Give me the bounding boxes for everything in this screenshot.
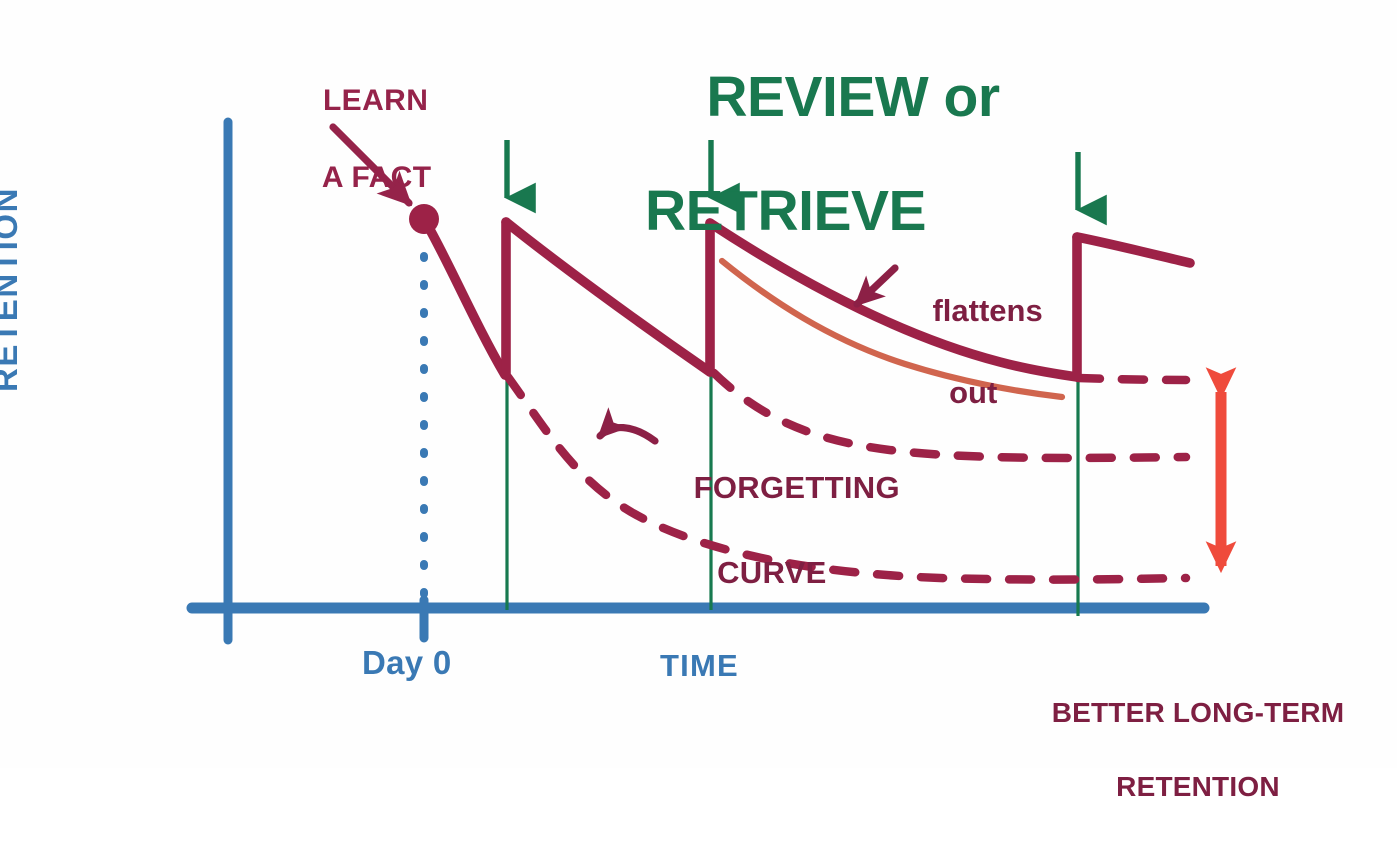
learn-a-fact-label-line2: A FACT [322, 161, 432, 194]
forgetting-curve-upper [1078, 378, 1186, 380]
flattens-out-label-line1: flattens [932, 293, 1042, 328]
forgetting-curve-label: FORGETTING CURVE [658, 424, 850, 638]
figure-canvas: REVIEW or RETRIEVE LEARN A FACT RETENTIO… [0, 0, 1397, 768]
y-axis-label: RETENTION [0, 132, 23, 392]
forgetting-curve-arrow [600, 428, 655, 441]
forgetting-curve-label-line1: FORGETTING [694, 470, 900, 505]
better-retention-label: BETTER LONG-TERM RETENTION [1017, 658, 1347, 843]
chart-title-line1: REVIEW or [706, 65, 999, 129]
retention-decay-3 [1077, 237, 1190, 263]
forgetting-curve-label-line2: CURVE [717, 555, 826, 590]
x-axis-origin-label: Day 0 [362, 646, 452, 680]
x-axis-label: TIME [660, 650, 739, 682]
flattens-out-label-line2: out [949, 375, 997, 410]
learn-a-fact-label: LEARN A FACT [288, 44, 428, 236]
better-retention-label-line2: RETENTION [1116, 771, 1280, 802]
retention-initial-decay [424, 219, 505, 375]
chart-title-line2: RETRIEVE [645, 183, 1000, 240]
learn-a-fact-label-line1: LEARN [323, 84, 428, 117]
flattens-out-label: flattens out [898, 250, 1014, 455]
better-retention-label-line1: BETTER LONG-TERM [1052, 697, 1345, 728]
